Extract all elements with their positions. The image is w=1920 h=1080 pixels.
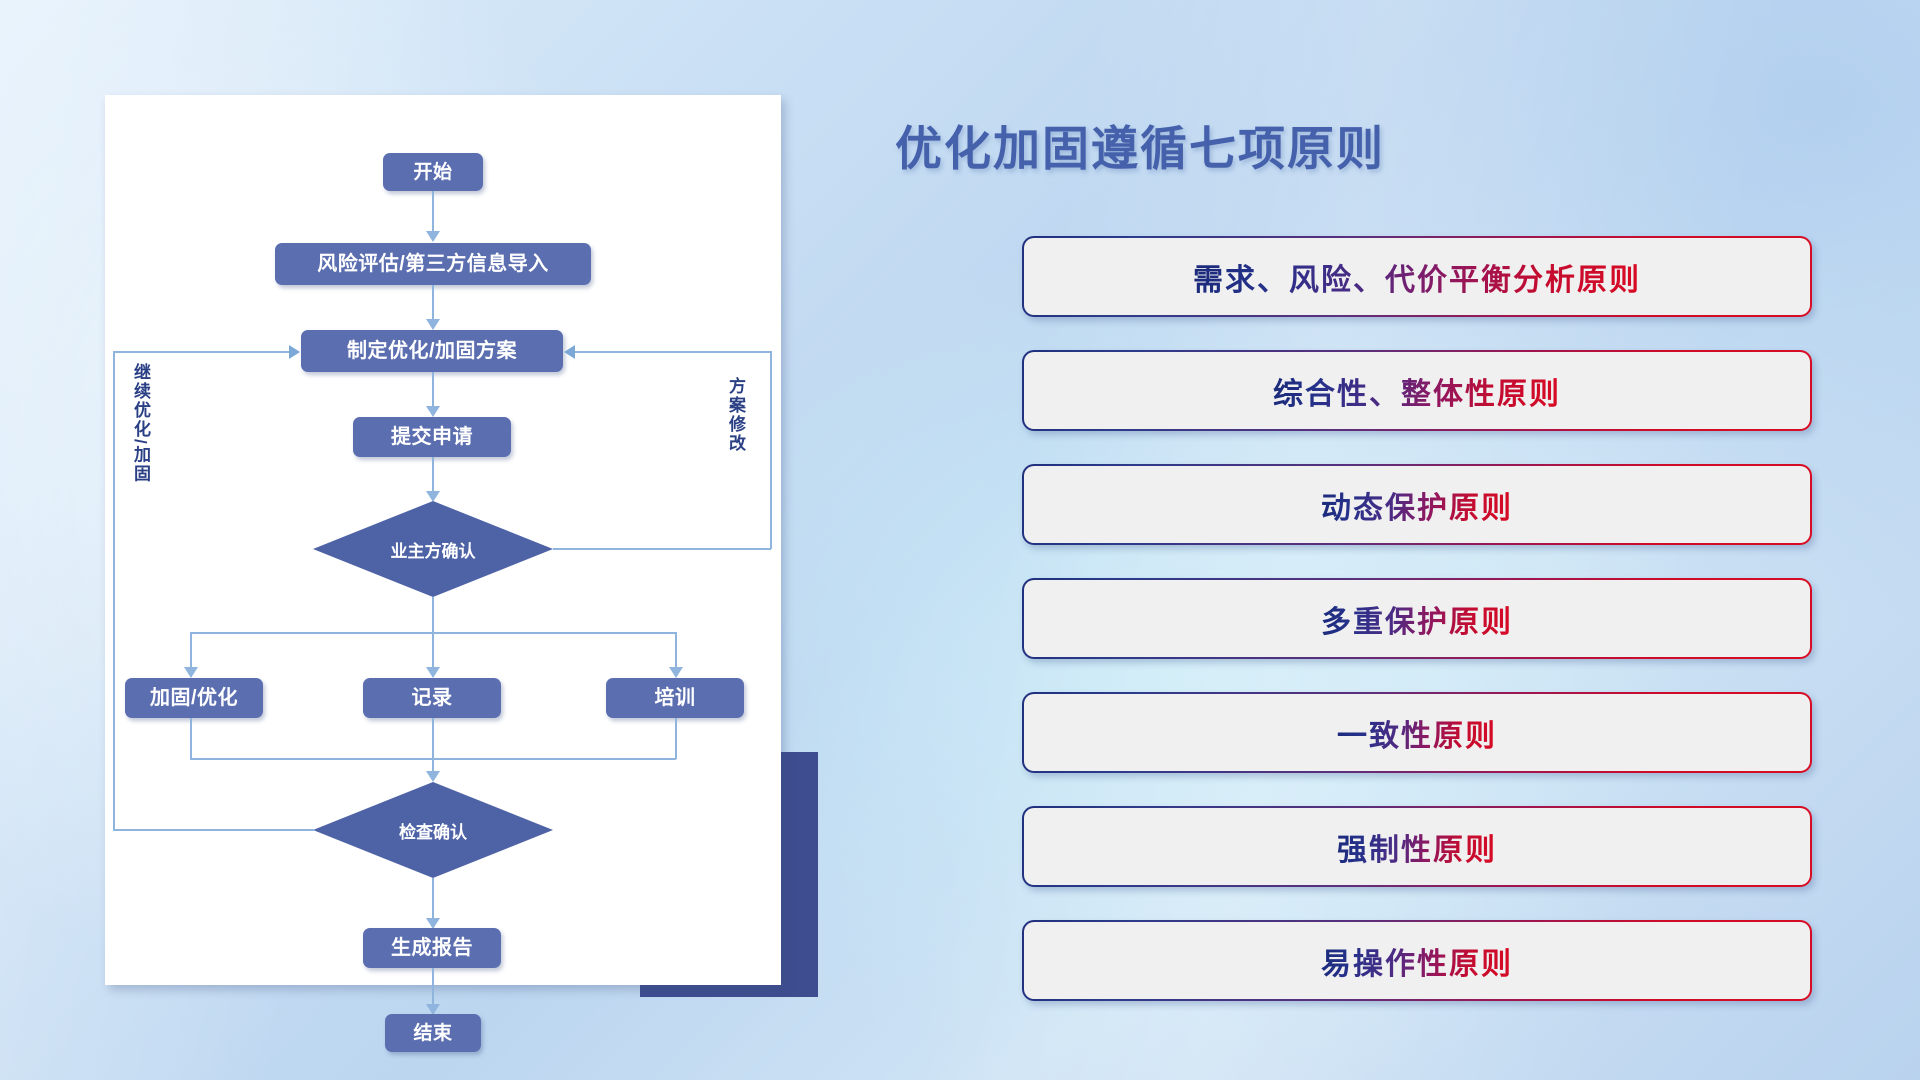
flow-node-reinforce-label: 加固/优化 <box>150 688 238 708</box>
connector-loop-right-top <box>575 351 771 353</box>
arrowhead-down-record <box>426 667 440 678</box>
connector-training-down <box>675 718 677 759</box>
flow-decision-check-confirm[interactable]: 检查确认 <box>313 782 553 878</box>
flow-node-start[interactable]: 开始 <box>383 153 483 191</box>
connector-owner-down <box>432 597 434 633</box>
flow-node-record[interactable]: 记录 <box>363 678 501 718</box>
arrowhead-down-plan <box>426 319 440 330</box>
principle-card-label: 综合性、整体性原则 <box>1273 369 1561 413</box>
flow-edge-label-left: 继续优化/加固 <box>131 363 149 484</box>
connector-loop-left-bottom <box>113 829 315 831</box>
arrowhead-down-submit <box>426 406 440 417</box>
flow-node-submit-application[interactable]: 提交申请 <box>353 417 511 457</box>
principle-card[interactable]: 一致性原则 <box>1022 692 1812 773</box>
connector-loop-left-vertical <box>113 351 115 830</box>
flow-decision-owner-label: 业主方确认 <box>391 537 476 562</box>
principle-card[interactable]: 需求、风险、代价平衡分析原则 <box>1022 236 1812 317</box>
flow-decision-check-label: 检查确认 <box>399 818 467 843</box>
connector-record-down <box>432 718 434 778</box>
connector-loop-right-bottom <box>553 548 771 550</box>
connector-loop-left-top <box>113 351 289 353</box>
page-title: 优化加固遵循七项原则 <box>895 110 1385 179</box>
flow-node-end-label: 结束 <box>413 1024 452 1043</box>
flowchart-canvas: 开始 风险评估/第三方信息导入 制定优化/加固方案 提交申请 <box>105 95 781 985</box>
arrowhead-down-training <box>669 667 683 678</box>
arrowhead-down-owner <box>426 491 440 502</box>
flow-edge-label-right-text: 方案修改 <box>726 377 745 453</box>
principle-card-label: 一致性原则 <box>1337 711 1497 755</box>
arrowhead-down-reinforce <box>184 667 198 678</box>
principle-card-label: 多重保护原则 <box>1321 597 1513 641</box>
principle-card[interactable]: 综合性、整体性原则 <box>1022 350 1812 431</box>
flow-node-training-label: 培训 <box>655 688 696 708</box>
flow-node-risk-assessment[interactable]: 风险评估/第三方信息导入 <box>275 243 591 285</box>
flow-node-risk-label: 风险评估/第三方信息导入 <box>317 254 549 274</box>
principles-list: 需求、风险、代价平衡分析原则 综合性、整体性原则 动态保护原则 多重保护原则 一… <box>1022 236 1812 1034</box>
connector-reinforce-down <box>190 718 192 759</box>
flow-node-training[interactable]: 培训 <box>606 678 744 718</box>
arrowhead-right-plan <box>289 345 300 359</box>
flow-node-record-label: 记录 <box>412 688 453 708</box>
flow-node-reinforce-optimize[interactable]: 加固/优化 <box>125 678 263 718</box>
principle-card[interactable]: 多重保护原则 <box>1022 578 1812 659</box>
principle-card[interactable]: 动态保护原则 <box>1022 464 1812 545</box>
slide-canvas: 开始 风险评估/第三方信息导入 制定优化/加固方案 提交申请 <box>0 0 1920 1080</box>
principle-card-label: 动态保护原则 <box>1321 483 1513 527</box>
flow-node-submit-label: 提交申请 <box>391 427 473 447</box>
flow-node-end[interactable]: 结束 <box>385 1014 481 1052</box>
arrowhead-down-check <box>426 771 440 782</box>
flow-decision-owner-confirm[interactable]: 业主方确认 <box>313 501 553 597</box>
connector-merge-bus <box>190 758 676 760</box>
connector-loop-right-vertical <box>770 351 772 549</box>
principle-card-label: 需求、风险、代价平衡分析原则 <box>1193 255 1641 299</box>
arrowhead-left-plan <box>564 345 575 359</box>
flow-edge-label-right: 方案修改 <box>726 377 744 453</box>
flow-node-make-plan-label: 制定优化/加固方案 <box>347 341 517 361</box>
flowchart-panel: 开始 风险评估/第三方信息导入 制定优化/加固方案 提交申请 <box>105 95 781 985</box>
flow-edge-label-left-text: 继续优化/加固 <box>131 363 150 484</box>
principle-card[interactable]: 强制性原则 <box>1022 806 1812 887</box>
flow-node-start-label: 开始 <box>413 163 452 182</box>
flow-node-make-plan[interactable]: 制定优化/加固方案 <box>301 330 563 372</box>
principle-card-label: 易操作性原则 <box>1321 939 1513 983</box>
principle-card[interactable]: 易操作性原则 <box>1022 920 1812 1001</box>
flow-node-generate-report[interactable]: 生成报告 <box>363 928 501 968</box>
principle-card-label: 强制性原则 <box>1337 825 1497 869</box>
flow-node-report-label: 生成报告 <box>391 938 473 958</box>
arrowhead-down-risk <box>426 231 440 242</box>
